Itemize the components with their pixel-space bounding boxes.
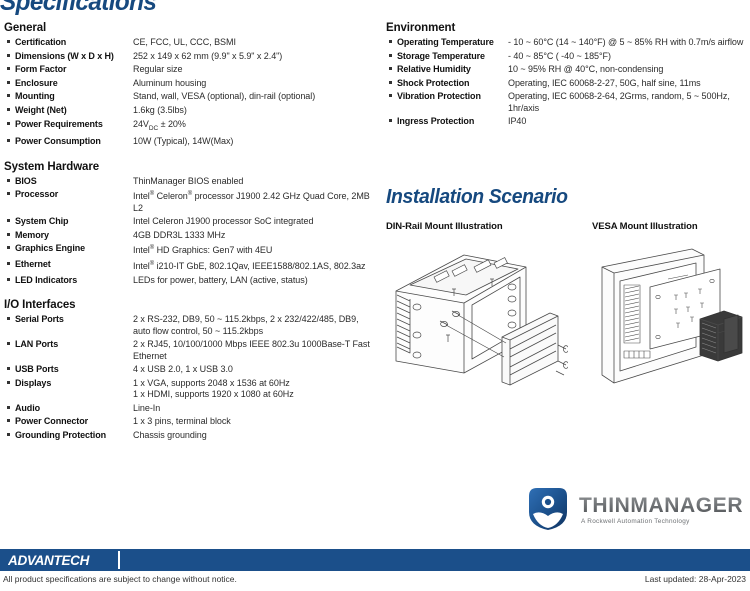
vesa-illustration-caption: VESA Mount Illustration (592, 221, 698, 232)
spec-row-key: LED Indicators (4, 275, 133, 289)
vesa-mount-illustration (592, 243, 748, 395)
bullet-icon (389, 54, 392, 57)
spec-row-key: Shock Protection (386, 78, 508, 92)
spec-row-key: Ethernet (4, 259, 133, 275)
spec-row-value: 4 x USB 2.0, 1 x USB 3.0 (133, 364, 376, 378)
spec-rows-environment: Operating Temperature- 10 ~ 60°C (14 ~ 1… (386, 37, 748, 130)
spec-row: LED IndicatorsLEDs for power, battery, L… (4, 275, 376, 289)
bullet-icon (389, 67, 392, 70)
footer-disclaimer: All product specifications are subject t… (3, 574, 237, 584)
spec-row-key: Displays (4, 378, 133, 403)
bullet-icon (389, 94, 392, 97)
spec-row-value: LEDs for power, battery, LAN (active, st… (133, 275, 376, 289)
page-title-container: Specifications (0, 0, 420, 20)
thinmanager-tagline: A Rockwell Automation Technology (581, 518, 690, 525)
spec-row-value: 10 ~ 95% RH @ 40°C, non-condensing (508, 64, 748, 78)
spec-row-value: 1 x 3 pins, terminal block (133, 416, 376, 430)
spec-row-key: Certification (4, 37, 133, 51)
spec-row: CertificationCE, FCC, UL, CCC, BSMI (4, 37, 376, 51)
advantech-wordmark: ADVANTECH (8, 553, 90, 568)
spec-row-key: Processor (4, 189, 133, 216)
spec-row-key: USB Ports (4, 364, 133, 378)
spec-row: BIOSThinManager BIOS enabled (4, 176, 376, 190)
spec-rows-general: CertificationCE, FCC, UL, CCC, BSMIDimen… (4, 37, 376, 150)
spec-row: Shock ProtectionOperating, IEC 60068-2-2… (386, 78, 748, 92)
bullet-icon (7, 54, 10, 57)
section-heading-system-hardware: System Hardware (4, 161, 376, 173)
spec-row: Power Requirements24VDC ± 20% (4, 119, 376, 136)
spec-row: ProcessorIntel® Celeron® processor J1900… (4, 189, 376, 216)
bullet-icon (7, 81, 10, 84)
spec-row-value: Regular size (133, 64, 376, 78)
spec-row-value: Intel® Celeron® processor J1900 2.42 GHz… (133, 189, 376, 216)
spec-row-value: 10W (Typical), 14W(Max) (133, 136, 376, 150)
bullet-icon (7, 122, 10, 125)
bullet-icon (7, 406, 10, 409)
spec-row-value: CE, FCC, UL, CCC, BSMI (133, 37, 376, 51)
spec-row: EnclosureAluminum housing (4, 78, 376, 92)
bullet-icon (389, 119, 392, 122)
spec-row: LAN Ports2 x RJ45, 10/100/1000 Mbps IEEE… (4, 339, 376, 364)
section-heading-general: General (4, 22, 376, 34)
spec-row-value: Operating, IEC 60068-2-64, 2Grms, random… (508, 91, 748, 116)
spec-row: Power Connector1 x 3 pins, terminal bloc… (4, 416, 376, 430)
spec-row-value: Aluminum housing (133, 78, 376, 92)
spec-row: Vibration ProtectionOperating, IEC 60068… (386, 91, 748, 116)
thinmanager-wordmark: THINMANAGER (579, 494, 743, 517)
spec-row-key: BIOS (4, 176, 133, 190)
spec-row: EthernetIntel® i210-IT GbE, 802.1Qav, IE… (4, 259, 376, 275)
spec-row-key: Graphics Engine (4, 243, 133, 259)
spec-row: Displays1 x VGA, supports 2048 x 1536 at… (4, 378, 376, 403)
spec-row-key: Relative Humidity (386, 64, 508, 78)
spec-row-value: 2 x RJ45, 10/100/1000 Mbps IEEE 802.3u 1… (133, 339, 376, 364)
spec-table-system-hardware: BIOSThinManager BIOS enabledProcessorInt… (4, 176, 376, 289)
spec-row-key: Ingress Protection (386, 116, 508, 130)
spec-rows-io-interfaces: Serial Ports2 x RS-232, DB9, 50 ~ 115.2k… (4, 314, 376, 443)
spec-row-value: 24VDC ± 20% (133, 119, 376, 136)
bullet-icon (7, 419, 10, 422)
spec-row-key: Storage Temperature (386, 51, 508, 65)
spec-row-value: - 10 ~ 60°C (14 ~ 140°F) @ 5 ~ 85% RH wi… (508, 37, 748, 51)
bullet-icon (7, 342, 10, 345)
spec-row-value: Stand, wall, VESA (optional), din-rail (… (133, 91, 376, 105)
spec-row-value: ThinManager BIOS enabled (133, 176, 376, 190)
spec-row-key: Dimensions (W x D x H) (4, 51, 133, 65)
spec-row-value: Line-In (133, 403, 376, 417)
bullet-icon (389, 40, 392, 43)
thinmanager-mark-icon (529, 488, 567, 530)
bullet-icon (7, 246, 10, 249)
spec-row-key: Power Connector (4, 416, 133, 430)
spec-row: Dimensions (W x D x H)252 x 149 x 62 mm … (4, 51, 376, 65)
spec-row-value: 4GB DDR3L 1333 MHz (133, 230, 376, 244)
spec-row-key: Power Consumption (4, 136, 133, 150)
bullet-icon (7, 367, 10, 370)
spec-row-value: 1.6kg (3.5lbs) (133, 105, 376, 119)
spec-row: Operating Temperature- 10 ~ 60°C (14 ~ 1… (386, 37, 748, 51)
spec-row-value: - 40 ~ 85°C ( -40 ~ 185°F) (508, 51, 748, 65)
spec-row-key: Memory (4, 230, 133, 244)
spec-row-key: Power Requirements (4, 119, 133, 136)
spec-row: Ingress ProtectionIP40 (386, 116, 748, 130)
spec-row-key: Audio (4, 403, 133, 417)
din-rail-mount-illustration (386, 243, 568, 395)
spec-row: Grounding ProtectionChassis grounding (4, 430, 376, 444)
spec-row-value: Intel® HD Graphics: Gen7 with 4EU (133, 243, 376, 259)
spec-row-key: System Chip (4, 216, 133, 230)
bullet-icon (7, 139, 10, 142)
page-title: Specifications (0, 0, 156, 17)
bullet-icon (7, 262, 10, 265)
spec-row-value: Operating, IEC 60068-2-27, 50G, half sin… (508, 78, 748, 92)
bullet-icon (7, 278, 10, 281)
spec-row-value: Intel® i210-IT GbE, 802.1Qav, IEEE1588/8… (133, 259, 376, 275)
spec-row: Form FactorRegular size (4, 64, 376, 78)
spec-row: Power Consumption10W (Typical), 14W(Max) (4, 136, 376, 150)
spec-row: Storage Temperature- 40 ~ 85°C ( -40 ~ 1… (386, 51, 748, 65)
spec-row: Weight (Net)1.6kg (3.5lbs) (4, 105, 376, 119)
bullet-icon (7, 433, 10, 436)
spec-row-key: LAN Ports (4, 339, 133, 364)
bullet-icon (7, 233, 10, 236)
bullet-icon (7, 94, 10, 97)
spec-row-key: Serial Ports (4, 314, 133, 339)
spec-row-value: 2 x RS-232, DB9, 50 ~ 115.2kbps, 2 x 232… (133, 314, 376, 339)
spec-row-key: Operating Temperature (386, 37, 508, 51)
bullet-icon (7, 179, 10, 182)
spec-row-key: Weight (Net) (4, 105, 133, 119)
spec-row-value: Chassis grounding (133, 430, 376, 444)
bullet-icon (7, 381, 10, 384)
bullet-icon (7, 317, 10, 320)
spec-row: Relative Humidity10 ~ 95% RH @ 40°C, non… (386, 64, 748, 78)
spec-row: Memory4GB DDR3L 1333 MHz (4, 230, 376, 244)
spec-row: System ChipIntel Celeron J1900 processor… (4, 216, 376, 230)
advantech-logo: ADVANTECH (8, 552, 112, 568)
bullet-icon (7, 108, 10, 111)
din-rail-illustration-caption: DIN-Rail Mount Illustration (386, 221, 503, 232)
spec-table-general: CertificationCE, FCC, UL, CCC, BSMIDimen… (4, 37, 376, 150)
bullet-icon (389, 81, 392, 84)
spec-row-value: Intel Celeron J1900 processor SoC integr… (133, 216, 376, 230)
footer-last-updated: Last updated: 28-Apr-2023 (645, 574, 746, 584)
spec-row-value: IP40 (508, 116, 748, 130)
spec-table-io-interfaces: Serial Ports2 x RS-232, DB9, 50 ~ 115.2k… (4, 314, 376, 443)
thinmanager-logo: THINMANAGER A Rockwell Automation Techno… (523, 486, 745, 532)
spec-row: MountingStand, wall, VESA (optional), di… (4, 91, 376, 105)
spec-row-key: Enclosure (4, 78, 133, 92)
spec-row: Serial Ports2 x RS-232, DB9, 50 ~ 115.2k… (4, 314, 376, 339)
left-column: General CertificationCE, FCC, UL, CCC, B… (4, 22, 376, 443)
section-heading-io-interfaces: I/O Interfaces (4, 299, 376, 311)
spec-row-key: Mounting (4, 91, 133, 105)
spec-row-key: Form Factor (4, 64, 133, 78)
section-heading-environment: Environment (386, 22, 748, 34)
bullet-icon (7, 219, 10, 222)
bullet-icon (7, 67, 10, 70)
spec-rows-system-hardware: BIOSThinManager BIOS enabledProcessorInt… (4, 176, 376, 289)
bullet-icon (7, 40, 10, 43)
spec-row: Graphics EngineIntel® HD Graphics: Gen7 … (4, 243, 376, 259)
bullet-icon (7, 192, 10, 195)
spec-row: USB Ports4 x USB 2.0, 1 x USB 3.0 (4, 364, 376, 378)
footer-bar (0, 549, 750, 571)
right-column: Environment Operating Temperature- 10 ~ … (386, 22, 748, 130)
installation-scenario-title: Installation Scenario (386, 186, 568, 209)
spec-row-value: 1 x VGA, supports 2048 x 1536 at 60Hz1 x… (133, 378, 376, 403)
footer-logo-divider (118, 551, 120, 569)
spec-row-value: 252 x 149 x 62 mm (9.9" x 5.9" x 2.4") (133, 51, 376, 65)
spec-row-key: Grounding Protection (4, 430, 133, 444)
spec-row: AudioLine-In (4, 403, 376, 417)
spec-row-key: Vibration Protection (386, 91, 508, 116)
spec-table-environment: Operating Temperature- 10 ~ 60°C (14 ~ 1… (386, 37, 748, 130)
